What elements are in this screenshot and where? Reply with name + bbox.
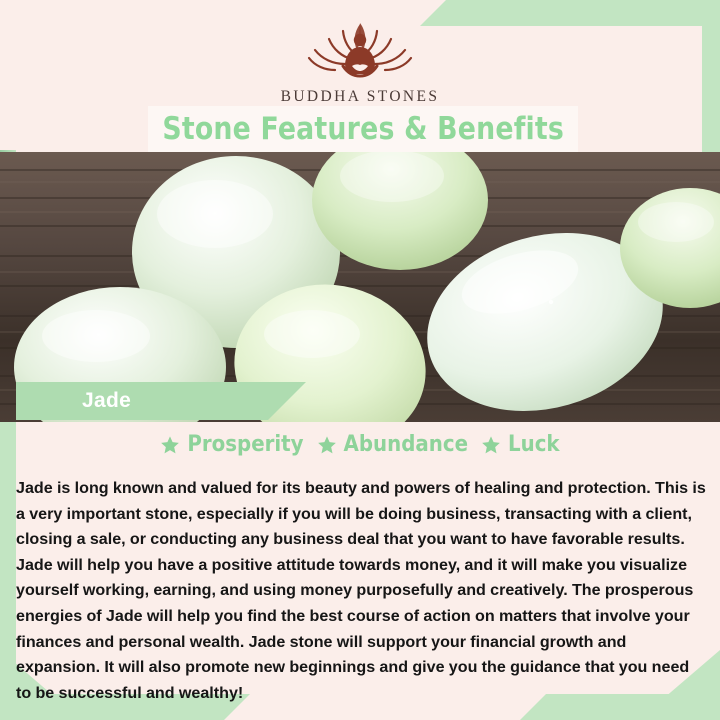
keyword-label: Prosperity [187, 432, 303, 457]
star-icon [317, 435, 337, 455]
page-title: Stone Features & Benefits [162, 111, 564, 147]
keyword-item: Abundance [317, 432, 468, 457]
keyword-label: Luck [508, 432, 560, 457]
keyword-list: Prosperity Abundance Luck [0, 432, 720, 457]
keyword-item: Prosperity [160, 432, 303, 457]
star-icon [160, 435, 180, 455]
brand-wordmark: BUDDHA STONES [0, 88, 720, 106]
lotus-meditation-icon [295, 14, 425, 86]
keyword-item: Luck [481, 432, 560, 457]
stone-name: Jade [82, 389, 131, 413]
brand-logo: BUDDHA STONES [0, 14, 720, 106]
jade-stones-photo-graphic [0, 152, 720, 422]
star-icon [481, 435, 501, 455]
keyword-label: Abundance [344, 432, 468, 457]
stone-info-poster: BUDDHA STONES Stone Features & Benefits [0, 0, 720, 720]
stone-photo [0, 152, 720, 422]
stone-name-banner: Jade [16, 382, 306, 420]
stone-description: Jade is long known and valued for its be… [16, 476, 706, 706]
page-title-banner: Stone Features & Benefits [148, 106, 578, 152]
